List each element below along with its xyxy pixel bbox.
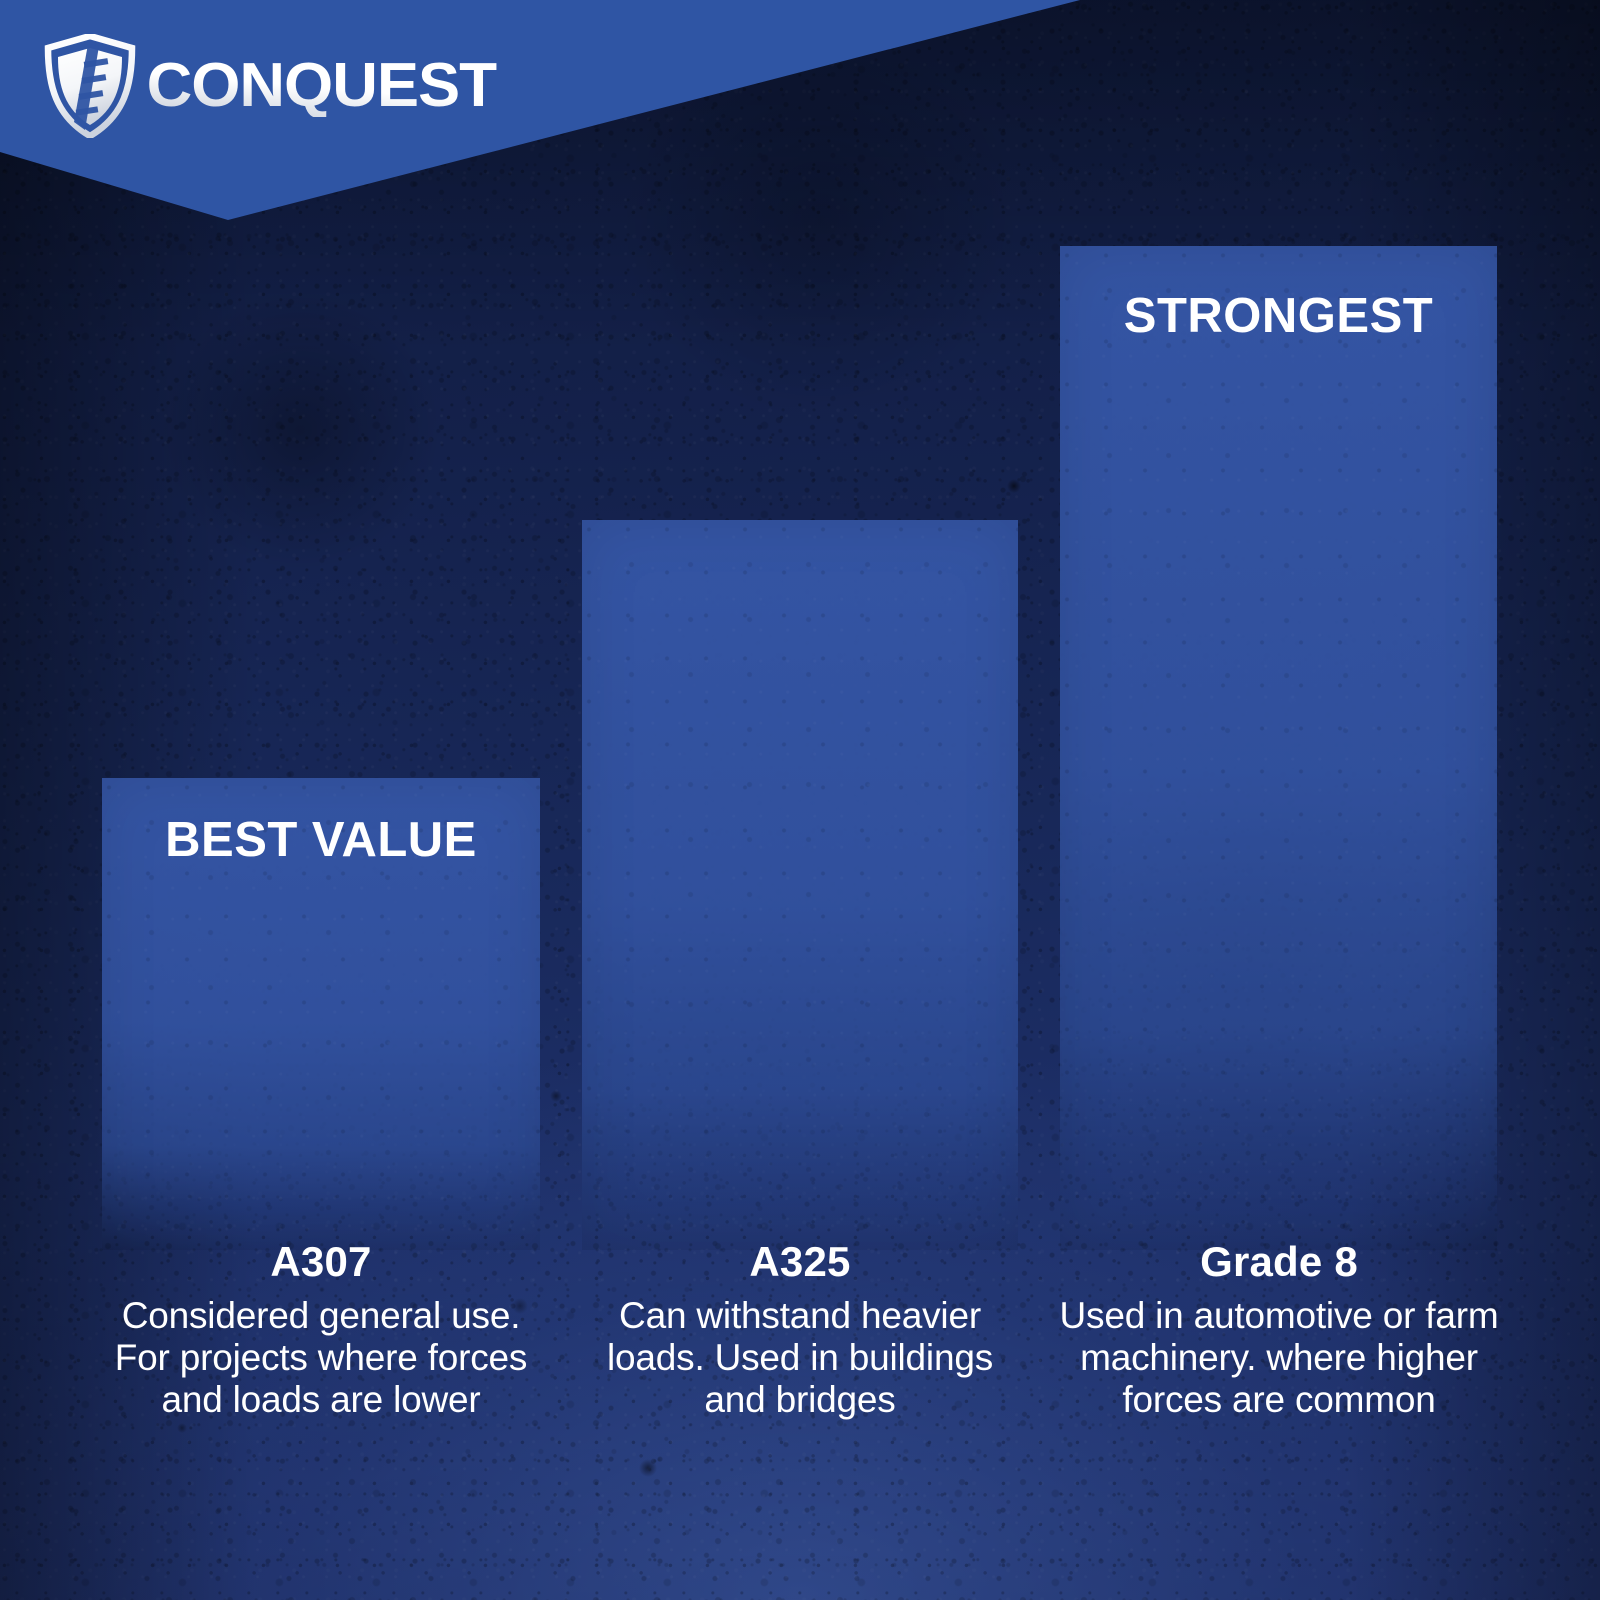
caption-title-a307: A307 — [92, 1240, 550, 1284]
caption-column-a307: A307 Considered general use. For project… — [92, 1240, 550, 1420]
brand-wordmark: CONQUEST — [147, 55, 497, 117]
caption-column-grade-8: Grade 8 Used in automotive or farm machi… — [1046, 1240, 1512, 1420]
caption-column-a325: A325 Can withstand heavier loads. Used i… — [576, 1240, 1024, 1420]
caption-description-a325: Can withstand heavier loads. Used in bui… — [576, 1295, 1024, 1420]
caption-title-grade-8: Grade 8 — [1046, 1240, 1512, 1284]
brand-logo[interactable]: CONQUEST — [44, 34, 493, 138]
bar-a325 — [582, 520, 1018, 1250]
shield-bolt-icon — [44, 34, 136, 138]
caption-title-a325: A325 — [576, 1240, 1024, 1284]
caption-description-a307: Considered general use. For projects whe… — [92, 1295, 550, 1420]
infographic-canvas: BEST VALUE STRONGEST A307 Considered gen… — [0, 0, 1600, 1600]
bar-grade-8 — [1060, 246, 1497, 1250]
caption-description-grade-8: Used in automotive or farm machinery. wh… — [1046, 1295, 1512, 1420]
badge-best-value: BEST VALUE — [102, 812, 540, 868]
badge-strongest: STRONGEST — [1060, 288, 1497, 344]
